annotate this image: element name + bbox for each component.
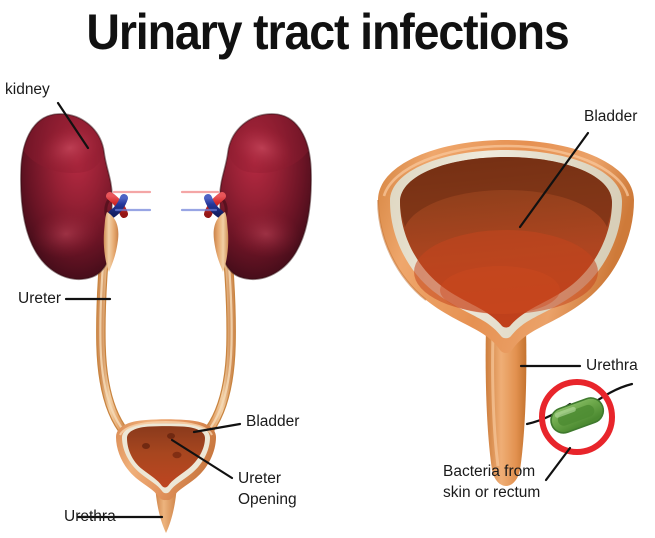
urinary-tract-illustration bbox=[0, 0, 655, 538]
bladder-large-icon bbox=[378, 140, 634, 486]
renal-vessels-right-icon bbox=[180, 192, 222, 214]
ureter-opening-spot bbox=[142, 443, 150, 449]
ureter-opening-spot bbox=[173, 452, 182, 458]
kidney-right-icon bbox=[220, 114, 311, 279]
label-bladder-right: Bladder bbox=[584, 107, 637, 127]
label-urethra-right: Urethra bbox=[586, 356, 638, 376]
illustration-canvas: Urinary tract infections bbox=[0, 0, 655, 538]
label-bladder-left: Bladder bbox=[246, 412, 299, 432]
label-ureter-opening: Ureter Opening bbox=[238, 468, 297, 510]
ureter-opening-spot bbox=[167, 433, 175, 439]
bacterium-rod-icon bbox=[548, 394, 607, 436]
label-bacteria: Bacteria from skin or rectum bbox=[443, 461, 540, 503]
label-urethra-left: Urethra bbox=[64, 507, 116, 527]
label-ureter: Ureter bbox=[18, 289, 61, 309]
renal-vessels-left-icon bbox=[110, 192, 152, 214]
bacteria-group bbox=[527, 382, 632, 452]
label-kidney: kidney bbox=[5, 80, 50, 100]
kidney-left-icon bbox=[21, 114, 112, 279]
